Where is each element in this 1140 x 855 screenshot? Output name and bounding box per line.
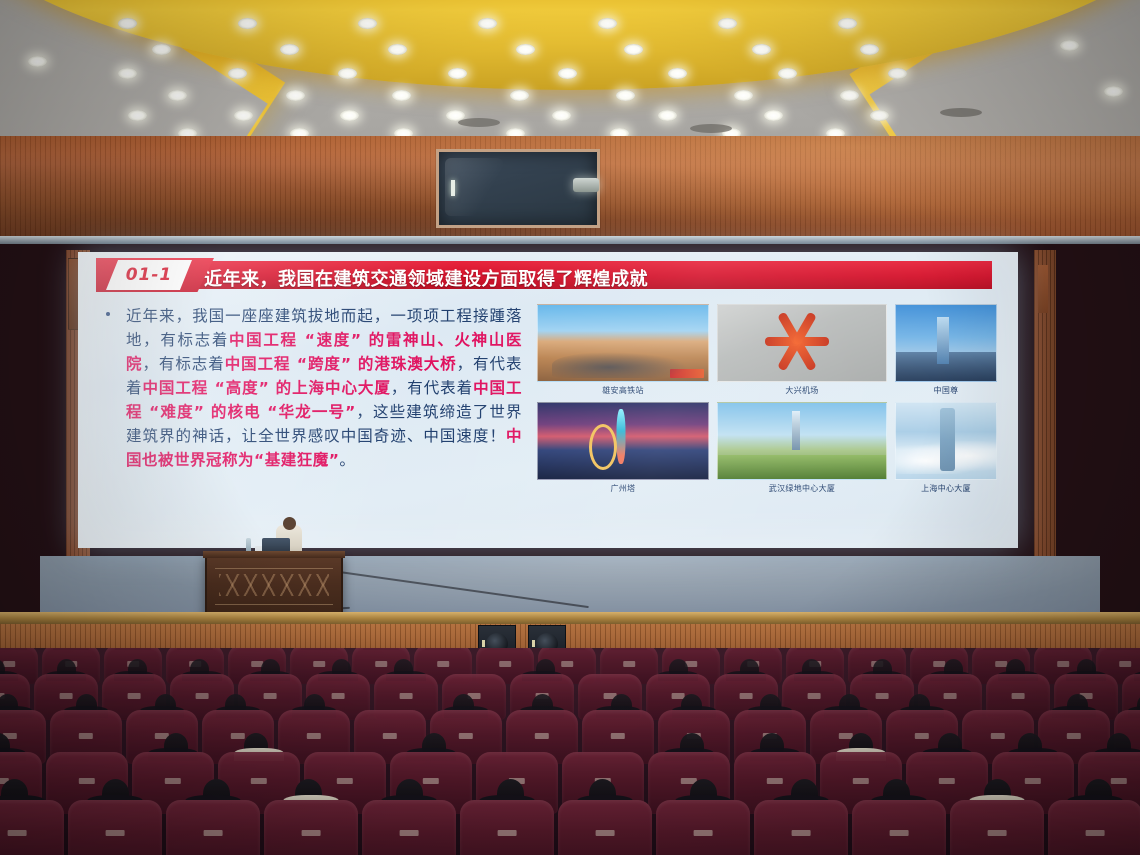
seat-number-tag: [459, 733, 473, 739]
ceiling-downlight: [238, 18, 257, 29]
seat-number-tag: [944, 693, 957, 699]
theater-seat[interactable]: [558, 800, 652, 855]
seat-number-tag: [337, 778, 353, 784]
speaker-led: [532, 640, 535, 647]
badge-hexagon: 01-1: [106, 260, 192, 290]
booth-light-strip: [451, 180, 455, 196]
seat-number-tag: [60, 693, 73, 699]
photo-caption: 武汉绿地中心大厦: [769, 483, 835, 494]
seat-number-tag: [264, 693, 277, 699]
seat-number-tag: [991, 733, 1005, 739]
seat-number-tag: [204, 830, 223, 836]
ceiling-downlight: [718, 18, 737, 29]
photo-cell: 武汉绿地中心大厦: [718, 402, 886, 494]
seat-number-tag: [196, 693, 209, 699]
desk-trim: [215, 568, 333, 569]
ceiling-downlight: [168, 90, 187, 101]
seat-number-tag: [611, 733, 625, 739]
seat-number-tag: [332, 693, 345, 699]
photo-cell: 大兴机场: [718, 304, 886, 396]
theater-seat[interactable]: [1048, 800, 1140, 855]
slide-header: 近年来，我国在建筑交通领域建设方面取得了辉煌成就 01-1: [96, 258, 996, 292]
seat-number-tag: [400, 693, 413, 699]
air-vent: [940, 108, 982, 117]
seat-number-tag: [375, 661, 387, 667]
seat-number-tag: [1119, 661, 1131, 667]
ceiling-downlight: [838, 18, 857, 29]
slide-photo: [895, 402, 997, 480]
theater-seat[interactable]: [656, 800, 750, 855]
speaker-led: [482, 640, 485, 647]
seat-number-tag: [79, 733, 93, 739]
seat-number-tag: [853, 778, 869, 784]
seat-number-tag: [307, 733, 321, 739]
theater-seat[interactable]: [264, 800, 358, 855]
desk-top: [203, 551, 345, 558]
ceiling-downlight: [128, 110, 147, 121]
body-phrase: 。: [339, 451, 355, 469]
seat-number-tag: [1111, 778, 1127, 784]
highlighted-phrase: 中国工程 “高度” 的上海中心大厦: [142, 379, 390, 397]
slide-body: 近年来，我国一座座建筑拔地而起，一项项工程接踵落地，有标志着中国工程 “速度” …: [104, 304, 522, 472]
seat-number-tag: [423, 778, 439, 784]
ceiling-downlight: [1060, 40, 1079, 51]
seat-number-tag: [596, 830, 615, 836]
seat-number-tag: [535, 733, 549, 739]
body-phrase: ，有标志着: [142, 355, 224, 373]
theater-seat[interactable]: [950, 800, 1044, 855]
seat-number-tag: [400, 830, 419, 836]
ceiling-downlight: [516, 44, 535, 55]
theater-seat[interactable]: [362, 800, 456, 855]
seat-number-tag: [792, 830, 811, 836]
ceiling-downlight: [510, 90, 529, 101]
photo-caption: 上海中心大厦: [921, 483, 971, 494]
slide-photo: [717, 304, 887, 382]
ceiling-downlight: [616, 90, 635, 101]
seat-number-tag: [1012, 693, 1025, 699]
slide-photo: [537, 304, 709, 382]
seat-number-tag: [1025, 778, 1041, 784]
theater-seat[interactable]: [68, 800, 162, 855]
seat-number-tag: [251, 778, 267, 784]
projection-booth-window: [436, 149, 600, 228]
ceiling: [0, 0, 1140, 150]
seat-number-tag: [1067, 733, 1081, 739]
seat-number-tag: [128, 693, 141, 699]
seat-number-tag: [498, 830, 517, 836]
ceiling-downlight: [752, 44, 771, 55]
auditorium-scene: 近年来，我国在建筑交通领域建设方面取得了辉煌成就 01-1 近年来，我国一座座建…: [0, 0, 1140, 855]
theater-seat[interactable]: [460, 800, 554, 855]
presenter-head: [283, 517, 296, 530]
seat-number-tag: [383, 733, 397, 739]
ceiling-downlight: [870, 110, 889, 121]
badge-label: 01-1: [126, 265, 173, 285]
theater-seat[interactable]: [852, 800, 946, 855]
seat-number-tag: [767, 778, 783, 784]
ceiling-downlight: [764, 110, 783, 121]
slide-photo: [895, 304, 997, 382]
seat-number-tag: [79, 778, 95, 784]
theater-seat[interactable]: [166, 800, 260, 855]
booth-spotlight: [573, 178, 599, 192]
canton-tower: [617, 409, 626, 464]
slide-section-badge: 01-1: [96, 258, 216, 294]
ceiling-downlight: [658, 110, 677, 121]
bridge-arch: [589, 424, 617, 470]
slide-photo: [537, 402, 709, 480]
tower: [937, 317, 949, 364]
seat-number-tag: [561, 661, 573, 667]
ceiling-downlight: [286, 90, 305, 101]
ceiling-downlight: [668, 68, 687, 79]
photo-caption: 中国尊: [934, 385, 959, 396]
seat-number-tag: [302, 830, 321, 836]
ceiling-downlight: [840, 90, 859, 101]
ceiling-downlight: [358, 18, 377, 29]
slide-photo: [717, 402, 887, 480]
body-phrase: ，有代表着: [391, 379, 473, 397]
terminal-shape: [758, 304, 832, 370]
seat-number-tag: [165, 778, 181, 784]
tower: [792, 411, 800, 451]
ceiling-downlight: [228, 68, 247, 79]
ceiling-downlight: [888, 68, 907, 79]
tower: [940, 408, 955, 472]
ceiling-downlight: [152, 44, 171, 55]
seat-number-tag: [437, 661, 449, 667]
photo-caption: 大兴机场: [785, 385, 818, 396]
ceiling-downlight: [118, 68, 137, 79]
photo-cell: 上海中心大厦: [896, 402, 996, 494]
ceiling-downlight: [392, 90, 411, 101]
ceiling-downlight: [558, 68, 577, 79]
watermark: [670, 369, 704, 378]
slide-photo-grid: 雄安高铁站大兴机场中国尊广州塔武汉绿地中心大厦上海中心大厦: [538, 304, 994, 494]
seat-number-tag: [8, 830, 27, 836]
projection-screen[interactable]: 近年来，我国在建筑交通领域建设方面取得了辉煌成就 01-1 近年来，我国一座座建…: [78, 252, 1018, 548]
bullet-icon: [106, 312, 110, 316]
seat-number-tag: [499, 661, 511, 667]
ceiling-downlight: [552, 110, 571, 121]
ceiling-downlight: [778, 68, 797, 79]
audience-seating: [0, 648, 1140, 855]
seat-number-tag: [988, 830, 1007, 836]
desk-trim: [215, 604, 333, 605]
air-vent: [690, 124, 732, 133]
desk-carving: [219, 574, 329, 596]
ceiling-downlight: [598, 18, 617, 29]
theater-seat[interactable]: [754, 800, 848, 855]
ceiling-downlight: [478, 18, 497, 29]
slide-body-text: 近年来，我国一座座建筑拔地而起，一项项工程接踵落地，有标志着中国工程 “速度” …: [126, 304, 522, 472]
ceiling-downlight: [1104, 86, 1123, 97]
presenter-desk: [205, 554, 343, 620]
ceiling-downlight: [340, 110, 359, 121]
seat-number-tag: [106, 830, 125, 836]
slide-title: 近年来，我国在建筑交通领域建设方面取得了辉煌成就: [204, 265, 648, 291]
photo-cell: 广州塔: [538, 402, 708, 494]
seat-number-tag: [890, 830, 909, 836]
air-vent: [458, 118, 500, 127]
seat-number-tag: [1086, 830, 1105, 836]
ceiling-downlight: [624, 44, 643, 55]
photo-caption: 雄安高铁站: [602, 385, 644, 396]
wall-panel-right: [1038, 265, 1048, 313]
seat-number-tag: [995, 661, 1007, 667]
photo-cell: 雄安高铁站: [538, 304, 708, 396]
seat-number-tag: [876, 693, 889, 699]
highlighted-phrase: 中国工程 “跨度” 的港珠澳大桥: [225, 355, 457, 373]
grass-field: [718, 455, 886, 479]
ceiling-downlight: [280, 44, 299, 55]
seat-number-tag: [933, 661, 945, 667]
seat-number-tag: [694, 830, 713, 836]
theater-seat[interactable]: [0, 800, 64, 855]
ceiling-downlight: [860, 44, 879, 55]
ceiling-downlight: [448, 68, 467, 79]
ceiling-downlight: [734, 90, 753, 101]
seat-number-tag: [231, 733, 245, 739]
photo-caption: 广州塔: [611, 483, 636, 494]
seat-number-tag: [623, 661, 635, 667]
seat-number-tag: [915, 733, 929, 739]
seat-number-tag: [740, 693, 753, 699]
ceiling-downlight: [118, 18, 137, 29]
ceiling-downlight: [388, 44, 407, 55]
ceiling-downlight: [234, 110, 253, 121]
slide-title-bar: 近年来，我国在建筑交通领域建设方面取得了辉煌成就: [192, 261, 992, 289]
seat-number-tag: [808, 693, 821, 699]
photo-cell: 中国尊: [896, 304, 996, 396]
ceiling-downlight: [338, 68, 357, 79]
seat-number-tag: [939, 778, 955, 784]
ceiling-downlight: [28, 56, 47, 67]
seat-number-tag: [1057, 661, 1069, 667]
seat-number-tag: [3, 661, 15, 667]
seat-number-tag: [313, 661, 325, 667]
